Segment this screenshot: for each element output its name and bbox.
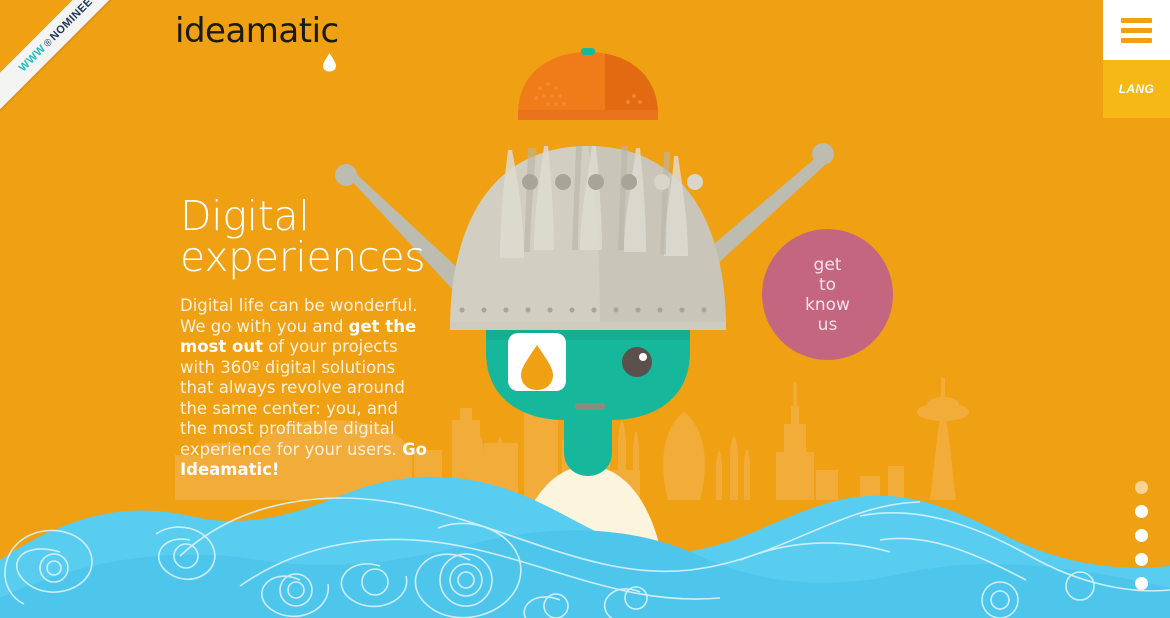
hamburger-menu-icon-bar3 xyxy=(1121,38,1152,43)
robot-mouth xyxy=(575,403,605,410)
hero-description: Digital life can be wonderful. We go wit… xyxy=(180,296,430,481)
cta-line-3: know xyxy=(805,295,850,315)
logo-text: ideamatic xyxy=(175,14,339,48)
slide-pagination[interactable] xyxy=(1135,481,1148,601)
cta-line-1: get xyxy=(814,255,842,275)
hero-copy: Digital experiences Digital life can be … xyxy=(180,196,430,481)
cta-line-2: to xyxy=(819,275,836,295)
slide-dot-2[interactable] xyxy=(1135,505,1148,518)
ribbon-nominee-text: NOMINEE xyxy=(48,0,95,43)
hamburger-menu-button[interactable] xyxy=(1103,0,1170,60)
lang-label: LANG xyxy=(1119,82,1155,96)
page-title: Digital experiences xyxy=(180,196,430,278)
robot-eye xyxy=(622,347,652,377)
language-switcher-button[interactable]: LANG xyxy=(1103,60,1170,118)
hero-stage: WWW ® NOMINEE ideamatic LANG Digital exp… xyxy=(0,0,1170,618)
nominee-ribbon[interactable]: WWW ® NOMINEE xyxy=(0,0,120,120)
hamburger-menu-icon-bar2 xyxy=(1121,28,1152,33)
hamburger-menu-icon xyxy=(1121,18,1152,23)
ribbon-www-text: WWW xyxy=(17,43,49,75)
slide-dot-3[interactable] xyxy=(1135,529,1148,542)
get-to-know-us-button[interactable]: get to know us xyxy=(762,229,893,360)
slide-dot-4[interactable] xyxy=(1135,553,1148,566)
site-logo[interactable]: ideamatic xyxy=(175,14,339,48)
slide-dot-1[interactable] xyxy=(1135,481,1148,494)
slide-dot-5[interactable] xyxy=(1135,577,1148,590)
title-line-2: experiences xyxy=(180,237,430,278)
cta-line-4: us xyxy=(818,315,838,335)
water-drop-icon xyxy=(322,52,337,72)
hero-illustration xyxy=(0,0,1170,618)
